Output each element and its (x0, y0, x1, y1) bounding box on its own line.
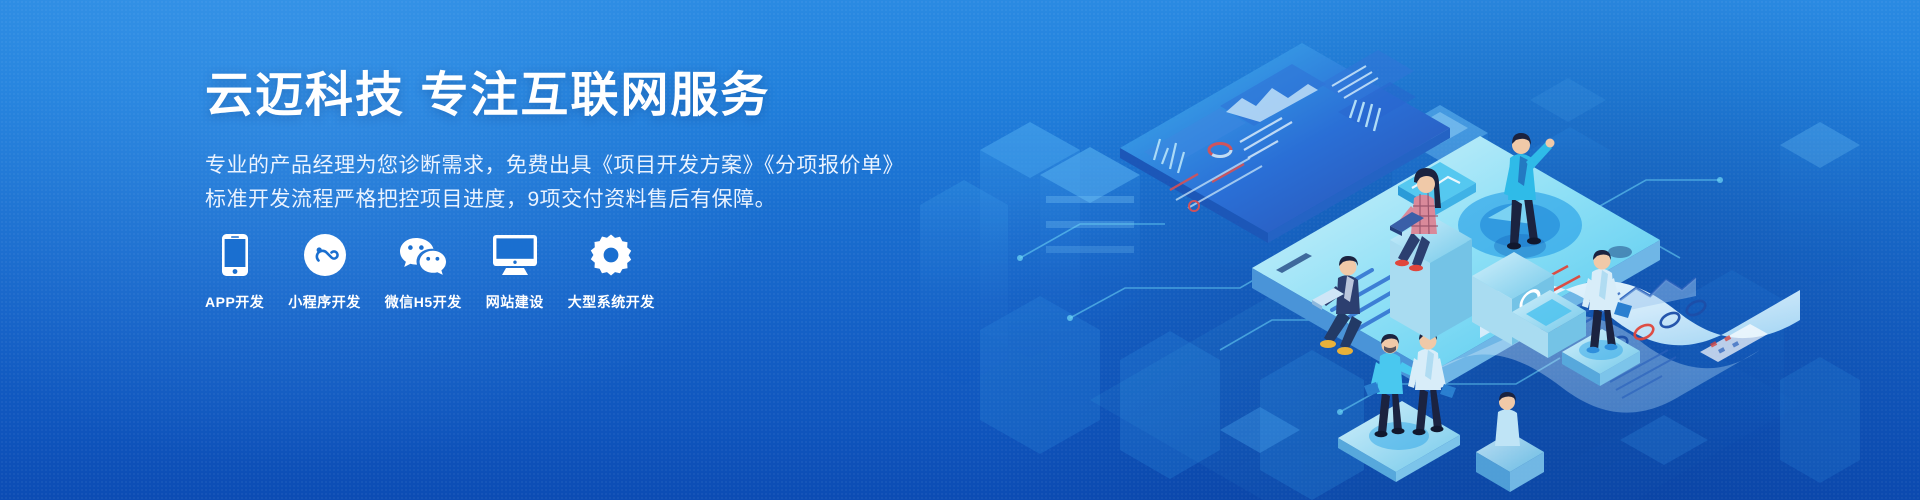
service-label: 网站建设 (486, 292, 544, 312)
service-item-website[interactable]: 网站建设 (486, 232, 544, 312)
service-label: 小程序开发 (288, 292, 361, 312)
service-item-large-system[interactable]: 大型系统开发 (568, 232, 655, 312)
service-label: 微信H5开发 (385, 292, 462, 312)
mobile-phone-icon (222, 232, 248, 278)
promo-banner: 云迈科技 专注互联网服务 专业的产品经理为您诊断需求，免费出具《项目开发方案》《… (0, 0, 1920, 500)
service-item-app[interactable]: APP开发 (205, 232, 264, 312)
page-title: 云迈科技 专注互联网服务 (205, 68, 905, 123)
banner-copy: 云迈科技 专注互联网服务 专业的产品经理为您诊断需求，免费出具《项目开发方案》《… (205, 68, 905, 217)
service-item-wechat-h5[interactable]: 微信H5开发 (385, 232, 462, 312)
monitor-icon (493, 232, 537, 278)
service-list: APP开发 小程序开发 (205, 232, 655, 312)
isometric-tech-illustration (920, 0, 1920, 500)
subtitle-line-2: 标准开发流程严格把控项目进度，9项交付资料售后有保障。 (205, 183, 905, 217)
gear-icon (590, 232, 632, 278)
woman-on-pedestal-laptop (1390, 162, 1476, 340)
subtitle-block: 专业的产品经理为您诊断需求，免费出具《项目开发方案》《分项报价单》 标准开发流程… (205, 123, 905, 217)
mini-program-icon (304, 232, 346, 278)
service-item-miniprogram[interactable]: 小程序开发 (288, 232, 361, 312)
service-label: APP开发 (205, 292, 264, 312)
subtitle-line-1: 专业的产品经理为您诊断需求，免费出具《项目开发方案》《分项报价单》 (205, 149, 905, 183)
wechat-icon (398, 232, 448, 278)
service-label: 大型系统开发 (568, 292, 655, 312)
